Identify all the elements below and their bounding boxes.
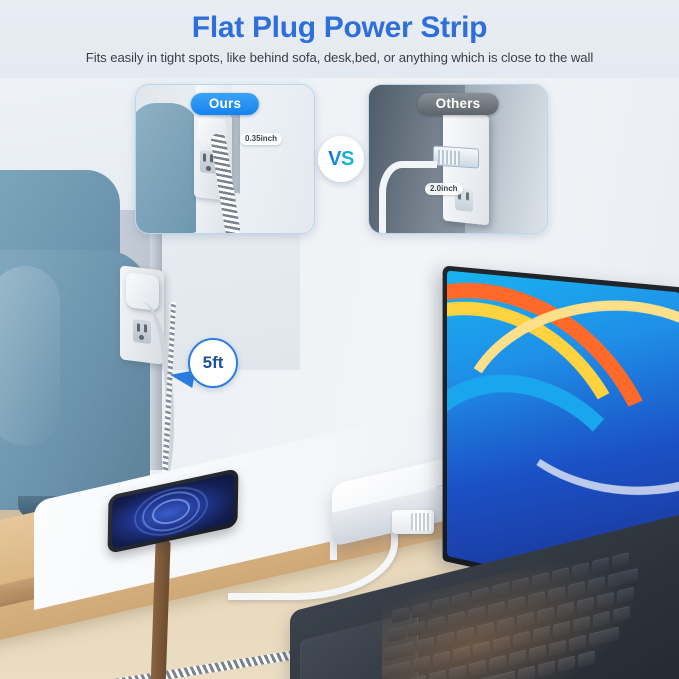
page-subtitle: Fits easily in tight spots, like behind …: [0, 50, 679, 65]
product-marketing-image: Flat Plug Power Strip Fits easily in tig…: [0, 0, 679, 679]
sofa-highlight: [0, 266, 60, 446]
page-title: Flat Plug Power Strip: [0, 11, 679, 45]
others-bulky-plug: [433, 145, 479, 168]
comparison-panel-ours: Ours 0.35inch: [135, 84, 315, 234]
cable-length-callout: 5ft: [188, 338, 238, 388]
comparison-panel-others: Others 2.0inch: [368, 84, 548, 234]
badge-ours: Ours: [191, 93, 259, 115]
plugged-adapter: [392, 510, 434, 534]
cable-length-label: 5ft: [203, 353, 224, 373]
header-band: Flat Plug Power Strip Fits easily in tig…: [0, 0, 679, 78]
vs-label: VS: [328, 148, 354, 171]
measurement-chip-others: 2.0inch: [425, 183, 463, 195]
measurement-chip-ours: 0.35inch: [240, 133, 282, 145]
badge-others: Others: [418, 93, 499, 115]
ours-sofa: [135, 103, 200, 233]
others-cord: [379, 161, 437, 234]
vs-badge: VS: [318, 136, 364, 182]
